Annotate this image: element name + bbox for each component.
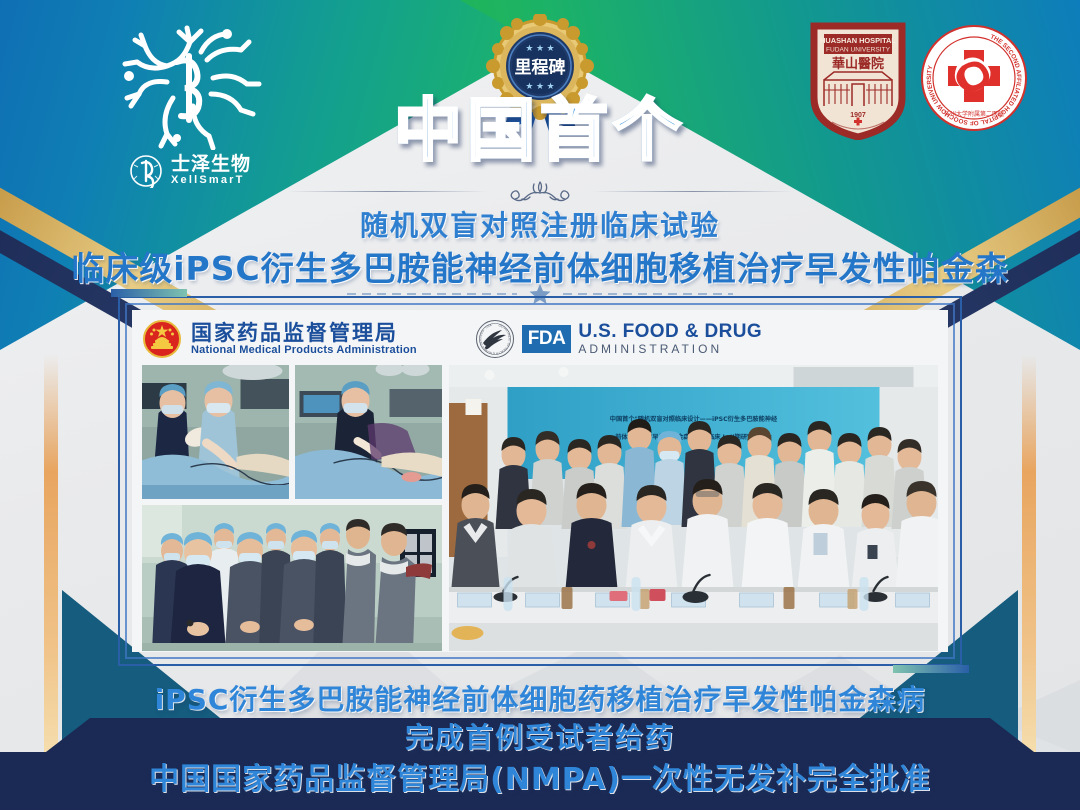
launch-meeting-group-photo: 中国首个"随机双盲对照临床设计——iPSC衍生多巴胺能神经 前体细胞治疗早发型帕… [449,365,938,651]
fda-name-line-1: U.S. FOOD & DRUG [578,322,762,342]
footer-line-2: 完成首例受试者给药 [0,716,1080,756]
photo-grid: 中国首个"随机双盲对照临床设计——iPSC衍生多巴胺能神经 前体细胞治疗早发型帕… [142,365,938,651]
evidence-panel: 国家药品监督管理局 National Medical Products Admi… [118,296,962,666]
surgery-photo-1 [142,365,289,499]
fda-logo: DEPARTMENT OF HEALTH & HUMAN SERVICES · … [475,319,762,359]
page-title: 中国首个 [0,98,1080,166]
ornament-flourish-icon [0,178,1080,204]
fda-name-line-2: ADMINISTRATION [578,342,762,356]
panel-accent-bottom-right [893,665,969,673]
svg-text:FUDAN UNIVERSITY: FUDAN UNIVERSITY [826,47,891,54]
star-dash-right [563,293,733,295]
nmpa-name-cn: 国家药品监督管理局 [191,322,417,344]
china-national-emblem-icon [142,319,182,359]
medal-stars-top: ★ ★ ★ [525,43,554,53]
surgery-photo-2 [295,365,442,499]
fda-badge: FDA [522,325,572,353]
hhs-seal-icon: DEPARTMENT OF HEALTH & HUMAN SERVICES · … [475,319,515,359]
svg-text:華山醫院: 華山醫院 [832,56,884,72]
flourish-glyph [497,178,583,204]
medal-stars-bottom: ★ ★ ★ [525,81,554,91]
medal-label: 里程碑 [515,57,566,78]
footer-line-3: 中国国家药品监督管理局(NMPA)一次性无发补完全批准 [0,754,1080,798]
panel-accent-top-left [111,289,187,297]
flourish-rule-right [593,191,793,192]
svg-text:HUASHAN HOSPITAL: HUASHAN HOSPITAL [820,36,896,45]
nmpa-text: 国家药品监督管理局 National Medical Products Admi… [191,322,417,356]
star-dash-left [347,293,517,295]
photo-row-surgery [142,365,442,499]
panel-content: 国家药品监督管理局 National Medical Products Admi… [132,310,948,652]
subtitle-line-1: 随机双盲对照注册临床试验 [0,204,1080,244]
nmpa-logo: 国家药品监督管理局 National Medical Products Admi… [142,319,417,359]
team-members [152,519,432,651]
nmpa-name-en: National Medical Products Administration [191,344,417,356]
poster-root: 士泽生物 XellSmarT HUASHAN HOSPITAL FUDAN UN… [0,0,1080,810]
footer-line-1: iPSC衍生多巴胺能神经前体细胞药移植治疗早发性帕金森病 [0,678,1080,718]
surgical-team-group-photo [142,505,442,651]
regulator-logo-row: 国家药品监督管理局 National Medical Products Admi… [142,316,938,362]
fda-text: U.S. FOOD & DRUG ADMINISTRATION [578,322,762,356]
flourish-rule-left [287,191,487,192]
photo-column-left [142,365,442,651]
